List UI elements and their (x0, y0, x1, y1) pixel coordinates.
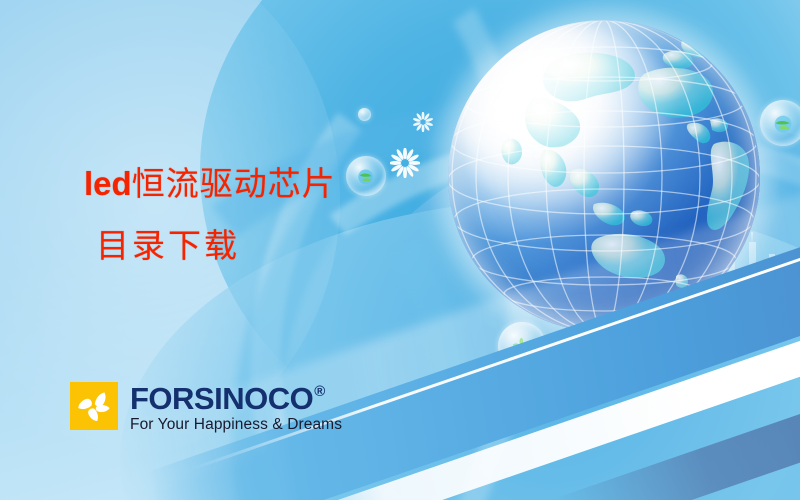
registered-trademark-icon: ® (314, 384, 325, 399)
diagonal-ribbon-steel (553, 330, 800, 500)
green-leaf-pinwheel-icon (510, 336, 533, 357)
bubble-icon (358, 108, 371, 121)
headline-cjk-words: 恒流驱动芯片 (132, 167, 336, 203)
bubble-icon (760, 100, 800, 146)
logo-wordmark-row: FORSINOCO ® (130, 383, 342, 414)
mini-globe-icon (356, 168, 375, 186)
mini-globe-icon (772, 114, 794, 134)
brand-logo[interactable]: FORSINOCO ® For Your Happiness & Dreams (70, 382, 342, 433)
logo-wordmark: FORSINOCO (130, 383, 313, 414)
headline-line-2: 目录下载 (84, 226, 336, 270)
earth-globe-icon (448, 20, 760, 332)
headline-latin-word: led (84, 165, 132, 202)
pinwheel-petals (70, 382, 118, 430)
headline-line-1: led恒流驱动芯片 (84, 162, 336, 208)
logo-text-block: FORSINOCO ® For Your Happiness & Dreams (130, 382, 342, 433)
pinwheel-flower-icon (70, 382, 118, 430)
globe-rim-light (448, 20, 760, 332)
bubble-icon (498, 322, 546, 370)
bubble-icon (346, 156, 386, 196)
logo-tagline: For Your Happiness & Dreams (130, 417, 342, 433)
headline-block: led恒流驱动芯片 目录下载 (84, 162, 336, 269)
promo-banner: led恒流驱动芯片 目录下载 FORSINOCO ® For Your Happ… (0, 0, 800, 500)
globe-sphere (448, 20, 760, 332)
starburst-icon (390, 148, 420, 178)
starburst-icon (413, 112, 433, 132)
